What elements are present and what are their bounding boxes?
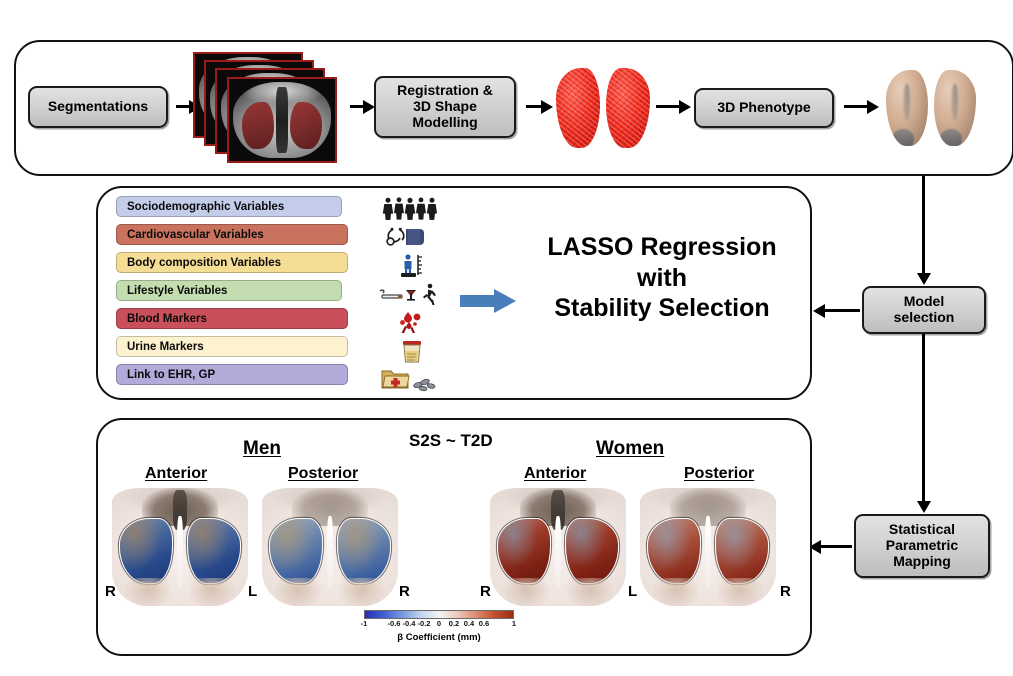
phenotype-label: 3D Phenotype: [717, 100, 810, 116]
spm-label-line1: Statistical: [889, 521, 955, 537]
stethoscope-bp-cuff-icon: [378, 225, 452, 250]
view-label-men-posterior: Posterior: [288, 465, 358, 483]
flow-arrow-to-lasso-icon: [460, 288, 516, 314]
surface-phenotype-left: [886, 70, 928, 146]
colorbar-tick-labels: -1 -0.6 -0.4 -0.2 0 0.2 0.4 0.6 1: [364, 619, 514, 631]
variable-bar-lifestyle[interactable]: Lifestyle Variables: [116, 280, 342, 301]
figure-canvas: Segmentations Registration & 3D Shape Mo…: [0, 0, 1013, 676]
view-label-men-anterior: Anterior: [145, 465, 207, 483]
surface-phenotype-right: [934, 70, 976, 146]
statmap-women-posterior: [640, 488, 776, 606]
segmentations-box[interactable]: Segmentations: [28, 86, 168, 128]
colorbar-tick: -0.6: [388, 619, 401, 628]
model-selection-label-line1: Model: [904, 293, 944, 309]
registration-label-line1: Registration &: [397, 82, 493, 98]
view-label-women-anterior: Anterior: [524, 465, 586, 483]
colorbar-tick: -1: [361, 619, 368, 628]
people-group-icon: [378, 196, 452, 221]
colorbar-tick: 0: [437, 619, 441, 628]
side-marker-men-anterior-left: L: [248, 583, 257, 600]
arrow-mesh-to-phenotype: [656, 105, 680, 108]
variable-bar-body-composition[interactable]: Body composition Variables: [116, 252, 348, 273]
spm-label-line2: Parametric: [886, 537, 958, 553]
arrow-segmentations-to-mri: [176, 105, 190, 108]
group-label-women: Women: [596, 438, 664, 460]
model-selection-label-line2: selection: [894, 309, 955, 325]
colorbar-tick: -0.4: [403, 619, 416, 628]
smoking-alcohol-exercise-icon: [378, 282, 452, 307]
variable-category-list: Sociodemographic Variables Cardiovascula…: [116, 196, 348, 392]
lasso-regression-title: LASSO Regression with Stability Selectio…: [520, 232, 804, 324]
arrow-model-selection-to-spm: [922, 334, 925, 502]
arrow-registration-to-mesh: [526, 105, 542, 108]
statmap-men-anterior: [112, 488, 248, 606]
results-title: S2S ~ T2D: [409, 431, 493, 451]
arrow-pipeline-to-model-selection: [922, 176, 925, 274]
registration-label-line3: Modelling: [412, 114, 477, 130]
view-label-women-posterior: Posterior: [684, 465, 754, 483]
weight-scale-person-icon: [378, 253, 452, 278]
colorbar-gradient: [364, 610, 514, 619]
statistical-parametric-mapping-box[interactable]: Statistical Parametric Mapping: [854, 514, 990, 578]
medical-records-folder-icon: [378, 367, 452, 392]
arrow-mri-to-registration: [350, 105, 364, 108]
variable-bar-urine-markers[interactable]: Urine Markers: [116, 336, 348, 357]
variable-icon-column: [378, 196, 452, 392]
variable-bar-link-ehr-gp[interactable]: Link to EHR, GP: [116, 364, 348, 385]
colorbar-tick: 0.4: [464, 619, 474, 628]
mri-slice-stack: [193, 52, 341, 166]
beta-coefficient-colorbar: -1 -0.6 -0.4 -0.2 0 0.2 0.4 0.6 1 β Coef…: [364, 610, 514, 643]
3d-surface-phenotype-pair: [886, 70, 976, 146]
side-marker-women-anterior-left: L: [628, 583, 637, 600]
model-selection-box[interactable]: Model selection: [862, 286, 986, 334]
variable-label: Sociodemographic Variables: [127, 201, 284, 213]
3d-phenotype-box[interactable]: 3D Phenotype: [694, 88, 834, 128]
red-3d-mesh-pair: [556, 68, 650, 148]
registration-3d-shape-modelling-box[interactable]: Registration & 3D Shape Modelling: [374, 76, 516, 138]
lasso-title-line3: Stability Selection: [554, 294, 769, 322]
variable-label: Cardiovascular Variables: [127, 229, 264, 241]
urine-sample-cup-icon: [378, 339, 452, 364]
lasso-title-line2: with: [637, 264, 687, 292]
arrow-spm-to-results: [820, 545, 852, 548]
arrow-model-selection-to-lasso: [824, 309, 860, 312]
blood-drops-icon: [378, 310, 452, 335]
statmap-men-posterior: [262, 488, 398, 606]
side-marker-women-posterior-right: R: [780, 583, 791, 600]
colorbar-tick: 0.2: [449, 619, 459, 628]
lasso-title-line1: LASSO Regression: [547, 233, 776, 261]
variable-label: Lifestyle Variables: [127, 285, 227, 297]
colorbar-axis-label: β Coefficient (mm): [364, 632, 514, 643]
variable-label: Body composition Variables: [127, 257, 281, 269]
variable-label: Link to EHR, GP: [127, 369, 215, 381]
registration-label-line2: 3D Shape: [413, 98, 477, 114]
colorbar-tick: 0.6: [479, 619, 489, 628]
variable-bar-blood-markers[interactable]: Blood Markers: [116, 308, 348, 329]
side-marker-women-anterior-right: R: [480, 583, 491, 600]
variable-label: Urine Markers: [127, 341, 204, 353]
statmap-women-anterior: [490, 488, 626, 606]
red-mesh-right: [606, 68, 650, 148]
variable-label: Blood Markers: [127, 313, 207, 325]
group-label-men: Men: [243, 438, 281, 460]
variable-bar-cardiovascular[interactable]: Cardiovascular Variables: [116, 224, 348, 245]
side-marker-men-posterior-right: R: [399, 583, 410, 600]
red-mesh-left: [556, 68, 600, 148]
side-marker-men-anterior-right: R: [105, 583, 116, 600]
segmentations-label: Segmentations: [48, 99, 148, 115]
colorbar-tick: -0.2: [418, 619, 431, 628]
arrow-phenotype-to-surface: [844, 105, 868, 108]
variable-bar-sociodemographic[interactable]: Sociodemographic Variables: [116, 196, 342, 217]
colorbar-tick: 1: [512, 619, 516, 628]
spm-label-line3: Mapping: [893, 553, 951, 569]
